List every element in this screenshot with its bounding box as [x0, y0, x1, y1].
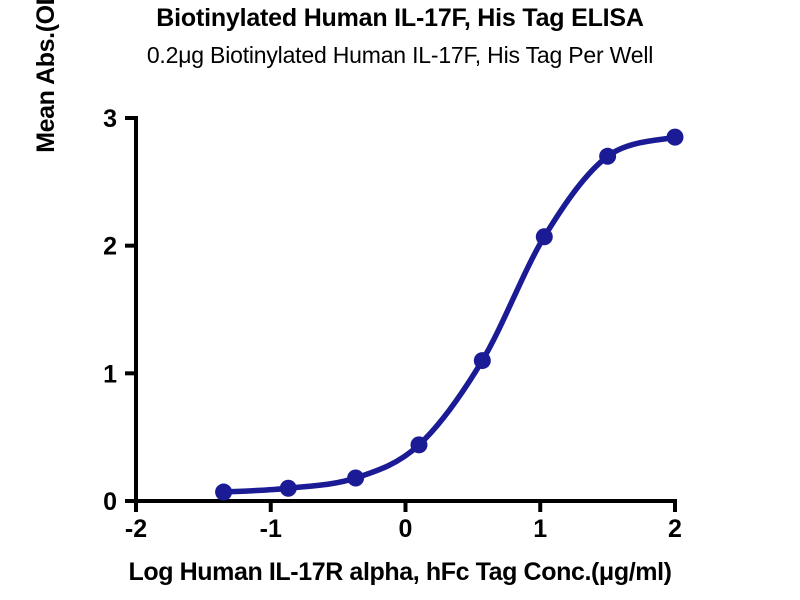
- plot-area: 0123 -2-1012: [0, 0, 800, 600]
- y-tick-label: 0: [103, 488, 117, 516]
- x-tick-label: -1: [260, 515, 282, 543]
- data-curve: [224, 137, 675, 492]
- data-point-marker: [410, 436, 427, 453]
- x-axis-label: Log Human IL-17R alpha, hFc Tag Conc.(μg…: [0, 556, 800, 588]
- data-points: [215, 129, 683, 501]
- y-tick-label: 1: [103, 360, 117, 388]
- x-tick-label: 2: [668, 515, 682, 543]
- data-point-marker: [536, 228, 553, 245]
- data-point-marker: [599, 148, 616, 165]
- data-point-marker: [347, 470, 364, 487]
- axes: [125, 116, 677, 512]
- data-point-marker: [667, 129, 684, 146]
- y-tick-labels: 0123: [103, 105, 117, 516]
- x-tick-label: 1: [533, 515, 547, 543]
- x-tick-label: 0: [399, 515, 413, 543]
- data-point-marker: [474, 352, 491, 369]
- x-tick-label: -2: [125, 515, 147, 543]
- data-point-marker: [215, 484, 232, 501]
- fit-curve: [224, 137, 675, 492]
- elisa-chart-figure: Biotinylated Human IL-17F, His Tag ELISA…: [0, 0, 800, 600]
- x-tick-labels: -2-1012: [125, 515, 682, 543]
- y-tick-label: 2: [103, 233, 117, 261]
- y-tick-label: 3: [103, 105, 117, 133]
- data-point-marker: [280, 480, 297, 497]
